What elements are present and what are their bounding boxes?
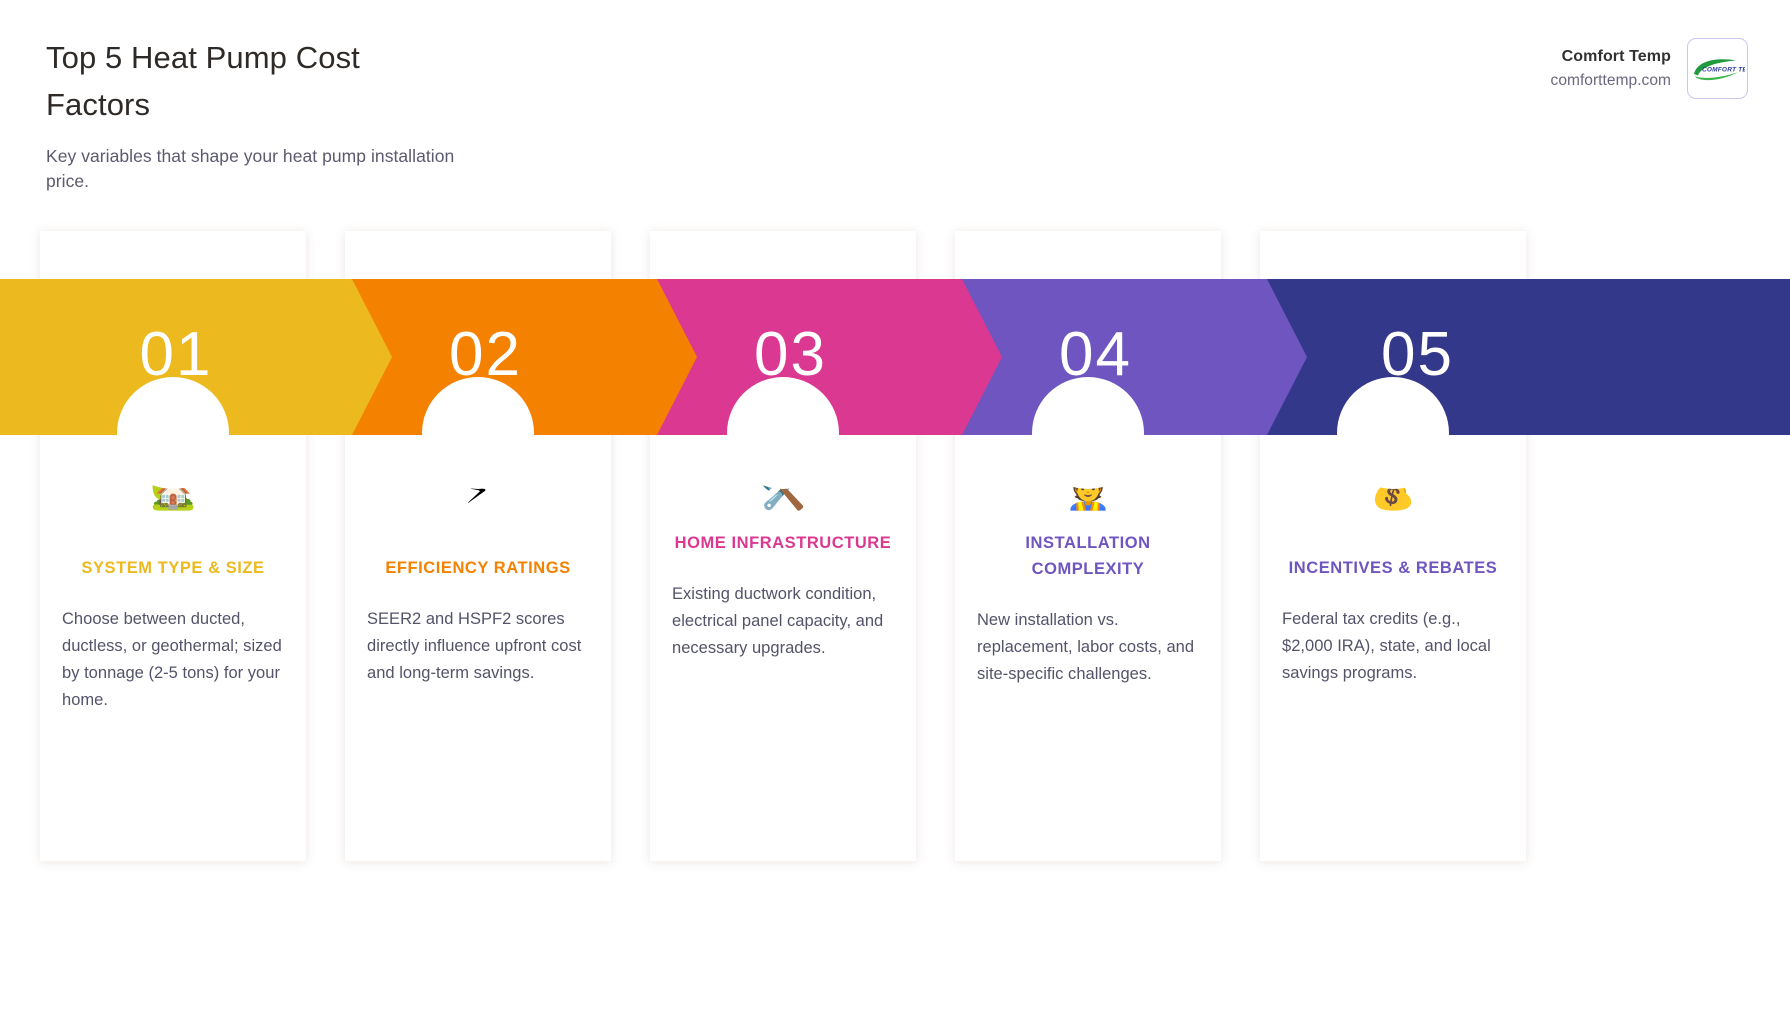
card-body-4: 👷 INSTALLATION COMPLEXITY New installati… — [955, 467, 1221, 688]
step-number-5: 05 — [1225, 279, 1790, 435]
card-description-3: Existing ductwork condition, electrical … — [672, 581, 894, 662]
comfort-temp-logo-svg: COMFORT TEMP — [1690, 54, 1745, 84]
card-title-2: EFFICIENCY RATINGS — [367, 555, 589, 581]
brand-block: Comfort Temp comforttemp.com COMFORT TEM… — [1551, 38, 1748, 99]
header: Top 5 Heat Pump Cost Factors Key variabl… — [0, 0, 1790, 200]
infographic-page: Top 5 Heat Pump Cost Factors Key variabl… — [0, 0, 1790, 1024]
brand-name: Comfort Temp — [1551, 45, 1671, 69]
card-title-4: INSTALLATION COMPLEXITY — [977, 530, 1199, 582]
card-body-2: ⚡ EFFICIENCY RATINGS SEER2 and HSPF2 sco… — [345, 467, 611, 687]
card-body-1: 🏡 SYSTEM TYPE & SIZE Choose between duct… — [40, 467, 306, 714]
notch-5 — [1337, 377, 1449, 489]
card-title-5: INCENTIVES & REBATES — [1282, 555, 1504, 581]
notch-3 — [727, 377, 839, 489]
page-subtitle: Key variables that shape your heat pump … — [46, 144, 466, 193]
svg-text:COMFORT TEMP: COMFORT TEMP — [1702, 66, 1745, 73]
comfort-temp-logo-icon: COMFORT TEMP — [1687, 38, 1748, 99]
card-title-1: SYSTEM TYPE & SIZE — [62, 555, 284, 581]
card-body-5: 💰 INCENTIVES & REBATES Federal tax credi… — [1260, 467, 1526, 687]
card-description-5: Federal tax credits (e.g., $2,000 IRA), … — [1282, 606, 1504, 687]
brand-url: comforttemp.com — [1551, 69, 1671, 92]
notch-4 — [1032, 377, 1144, 489]
card-body-3: 🛠️ HOME INFRASTRUCTURE Existing ductwork… — [650, 467, 916, 662]
card-description-4: New installation vs. replacement, labor … — [977, 607, 1199, 688]
page-title: Top 5 Heat Pump Cost Factors — [46, 34, 466, 128]
card-description-2: SEER2 and HSPF2 scores directly influenc… — [367, 606, 589, 687]
card-title-3: HOME INFRASTRUCTURE — [672, 530, 894, 556]
brand-text: Comfort Temp comforttemp.com — [1551, 45, 1671, 92]
notch-2 — [422, 377, 534, 489]
chevron-band: 01 02 03 04 05 — [0, 279, 1790, 435]
notch-1 — [117, 377, 229, 489]
card-description-1: Choose between ducted, ductless, or geot… — [62, 606, 284, 714]
title-block: Top 5 Heat Pump Cost Factors Key variabl… — [46, 34, 466, 193]
chevron-step-5: 05 — [1225, 279, 1790, 435]
